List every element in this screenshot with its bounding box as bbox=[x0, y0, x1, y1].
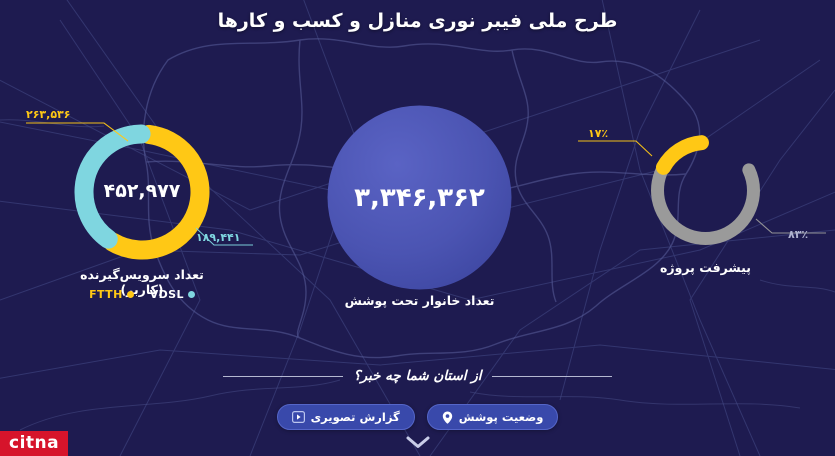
panel-covered-households: ۳,۳۴۶,۳۶۲ تعداد خانوار تحت پوشش bbox=[327, 105, 512, 290]
action-buttons: وضعیت پوشش گزارش تصویری bbox=[0, 404, 835, 430]
province-prompt-text: از استان شما چه خبر؟ bbox=[353, 368, 481, 384]
households-caption: تعداد خانوار تحت پوشش bbox=[327, 293, 512, 308]
citna-watermark: citna bbox=[0, 431, 68, 456]
chevron-down-icon bbox=[406, 434, 430, 453]
location-pin-icon bbox=[442, 411, 453, 424]
coverage-status-button[interactable]: وضعیت پوشش bbox=[427, 404, 559, 430]
panel-project-progress: پیشرفت پروژه bbox=[643, 128, 768, 253]
callout-remaining-percent: ۸۳٪ bbox=[788, 228, 808, 241]
progress-donut-svg bbox=[643, 128, 768, 253]
divider-left bbox=[492, 376, 612, 377]
households-circle: ۳,۳۴۶,۳۶۲ bbox=[327, 105, 512, 290]
page-title: طرح ملی فیبر نوری منازل و کسب و کارها bbox=[0, 10, 835, 32]
province-prompt: از استان شما چه خبر؟ bbox=[0, 368, 835, 384]
coverage-status-label: وضعیت پوشش bbox=[459, 410, 544, 424]
video-report-label: گزارش تصویری bbox=[311, 410, 400, 424]
divider-right bbox=[223, 376, 343, 377]
dashboard-stage: طرح ملی فیبر نوری منازل و کسب و کارها ۴۵… bbox=[0, 0, 835, 456]
progress-donut bbox=[643, 128, 768, 253]
callout-progress-percent: ۱۷٪ bbox=[588, 127, 608, 140]
progress-caption: پیشرفت پروژه bbox=[643, 260, 768, 275]
video-report-button[interactable]: گزارش تصویری bbox=[277, 404, 415, 430]
households-value: ۳,۳۴۶,۳۶۲ bbox=[327, 185, 512, 211]
scroll-down-button[interactable] bbox=[0, 434, 835, 453]
callout-ftth-value: ۲۶۳,۵۳۶ bbox=[26, 108, 70, 121]
callout-vdsl-value: ۱۸۹,۴۴۱ bbox=[196, 231, 240, 244]
video-play-icon bbox=[292, 411, 305, 423]
